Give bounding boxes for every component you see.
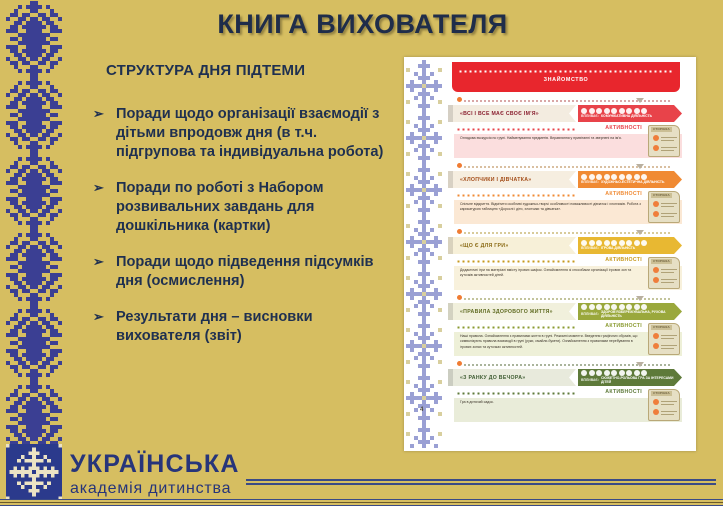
- tag-text: СЮЖЕТНО-РОЛЬОВА ГРА ЗА ІНТЕРЕСАМИ ДІТЕЙ: [601, 377, 682, 385]
- page-card-line: [661, 338, 674, 339]
- connector-knob-icon: [456, 228, 463, 235]
- list-item-label: Поради по роботі з Набором розвивальних …: [116, 180, 323, 234]
- document-section[interactable]: «ВСІ І ВСЕ МАЄ СВОЄ ІМ'Я» ВПЛИВАЄ: КОМУН…: [448, 96, 692, 158]
- bullet-arrow-icon: ➢: [93, 309, 104, 326]
- bullet-list: ➢ Поради щодо організації взаємодії з ді…: [92, 105, 392, 363]
- section-influence-tag: ВПЛИВАЄ: ХУДОЖНЬО-ЕСТЕТИЧНА ДІЯЛЬНІСТЬ: [578, 171, 682, 188]
- page-card-line: [661, 216, 674, 217]
- tag-label: ВПЛИВАЄ: ХУДОЖНЬО-ЕСТЕТИЧНА ДІЯЛЬНІСТЬ: [581, 181, 682, 185]
- slide: КНИГА ВИХОВАТЕЛЯ СТРУКТУРА ДНЯ ПІДТЕМИ ➢…: [0, 0, 723, 506]
- section-activities: АКТИВНОСТІ Гра в дитячий садок. СТОРІНКА: [454, 388, 682, 422]
- logo-embroidery-mark: [6, 444, 62, 500]
- activities-label: АКТИВНОСТІ: [605, 323, 642, 329]
- section-title: «ЩО Є ДЛЯ ГРИ»: [448, 237, 576, 254]
- embroidery-border-left: [6, 0, 62, 458]
- list-item-label: Поради щодо підведення підсумків дня (ос…: [116, 254, 374, 289]
- page-card-label: СТОРІНКА: [651, 127, 672, 132]
- page-card-dot-icon: [653, 409, 659, 415]
- page-card-dot-icon: [653, 277, 659, 283]
- section-influence-tag: ВПЛИВАЄ: СЮЖЕТНО-РОЛЬОВА ГРА ЗА ІНТЕРЕСА…: [578, 369, 682, 386]
- page-title: КНИГА ВИХОВАТЕЛЯ: [190, 9, 535, 40]
- activities-dotted-line: [456, 326, 576, 329]
- document-section[interactable]: «ХЛОПЧИКИ І ДІВЧАТКА» ВПЛИВАЄ: ХУДОЖНЬО-…: [448, 162, 692, 224]
- section-activities: АКТИВНОСТІ Оглядова екскурсія по групі. …: [454, 124, 682, 158]
- page-card-line: [661, 414, 674, 415]
- document-page-number: 4: [420, 407, 423, 413]
- page-card-line: [661, 272, 674, 273]
- page-card-line: [661, 147, 677, 148]
- page-card-label: СТОРІНКА: [651, 259, 672, 264]
- document-section[interactable]: «ПРАВИЛА ЗДОРОВОГО ЖИТТЯ» ВПЛИВАЄ: ЗДОРО…: [448, 294, 692, 356]
- section-banner: «ПРАВИЛА ЗДОРОВОГО ЖИТТЯ» ВПЛИВАЄ: ЗДОРО…: [448, 303, 692, 320]
- section-subtitle: СТРУКТУРА ДНЯ ПІДТЕМИ: [106, 62, 305, 79]
- page-card[interactable]: СТОРІНКА: [648, 389, 680, 421]
- page-card-line: [661, 282, 674, 283]
- page-card-dot-icon: [653, 135, 659, 141]
- activities-dotted-line: [456, 128, 576, 131]
- tag-label: ВПЛИВАЄ: СЮЖЕТНО-РОЛЬОВА ГРА ЗА ІНТЕРЕСА…: [581, 377, 682, 385]
- activities-text: Дидактичні ігри на матеріалі вмісту ігро…: [460, 268, 644, 279]
- header-dotted-line: [458, 70, 674, 73]
- page-card-line: [661, 137, 677, 138]
- page-card-line: [661, 345, 677, 346]
- page-card[interactable]: СТОРІНКА: [648, 125, 680, 157]
- page-card-line: [661, 348, 674, 349]
- page-card-label: СТОРІНКА: [651, 193, 672, 198]
- page-card-dot-icon: [653, 399, 659, 405]
- list-item: ➢ Поради по роботі з Набором розвивальни…: [92, 179, 392, 236]
- tag-text: ХУДОЖНЬО-ЕСТЕТИЧНА ДІЯЛЬНІСТЬ: [601, 181, 664, 185]
- activities-dotted-line: [456, 194, 576, 197]
- page-card-line: [661, 279, 677, 280]
- activities-label: АКТИВНОСТІ: [605, 389, 642, 395]
- section-influence-tag: ВПЛИВАЄ: КОМУНІКАТИВНА ДІЯЛЬНІСТЬ: [578, 105, 682, 122]
- page-card-line: [661, 213, 677, 214]
- list-item: ➢ Результати дня – висновки вихователя (…: [92, 308, 392, 346]
- activities-label: АКТИВНОСТІ: [605, 257, 642, 263]
- document-preview-panel[interactable]: ЗНАЙОМСТВО «ВСІ І ВСЕ МАЄ СВОЄ ІМ'Я» ВПЛ…: [404, 57, 696, 451]
- tag-kicker: ВПЛИВАЄ:: [581, 313, 599, 317]
- tag-label: ВПЛИВАЄ: ЗДОРОВ'ЯЗБЕРЕЖУВАЛЬНА, РУХОВА Д…: [581, 311, 682, 319]
- tag-text: КОМУНІКАТИВНА ДІЯЛЬНІСТЬ: [601, 115, 652, 119]
- page-card-dot-icon: [653, 145, 659, 151]
- list-item-label: Результати дня – висновки вихователя (зв…: [116, 309, 313, 344]
- connector-knob-icon: [456, 360, 463, 367]
- section-title: «З РАНКУ ДО ВЕЧОРА»: [448, 369, 576, 386]
- page-card-line: [661, 401, 677, 402]
- page-card-dot-icon: [653, 211, 659, 217]
- connector-tick-icon: [636, 164, 644, 169]
- activities-dotted-line: [456, 392, 576, 395]
- connector-tick-icon: [636, 362, 644, 367]
- tag-kicker: ВПЛИВАЄ:: [581, 247, 599, 251]
- page-card[interactable]: СТОРІНКА: [648, 257, 680, 289]
- document-content: ЗНАЙОМСТВО «ВСІ І ВСЕ МАЄ СВОЄ ІМ'Я» ВПЛ…: [448, 60, 692, 422]
- section-banner: «ЩО Є ДЛЯ ГРИ» ВПЛИВАЄ: ІГРОВА ДІЯЛЬНІСТ…: [448, 237, 692, 254]
- page-card-dot-icon: [653, 343, 659, 349]
- logo-subtitle: академія дитинства: [70, 479, 240, 498]
- activities-text: Гра в дитячий садок.: [460, 400, 644, 405]
- tag-text: ЗДОРОВ'ЯЗБЕРЕЖУВАЛЬНА, РУХОВА ДІЯЛЬНІСТЬ: [601, 311, 682, 319]
- section-banner: «З РАНКУ ДО ВЕЧОРА» ВПЛИВАЄ: СЮЖЕТНО-РОЛ…: [448, 369, 692, 386]
- header-label: ЗНАЙОМСТВО: [452, 77, 680, 83]
- bullet-arrow-icon: ➢: [93, 180, 104, 197]
- tag-label: ВПЛИВАЄ: ІГРОВА ДІЯЛЬНІСТЬ: [581, 247, 682, 251]
- page-card-label: СТОРІНКА: [651, 325, 672, 330]
- page-card-dot-icon: [653, 267, 659, 273]
- page-card-line: [661, 203, 677, 204]
- page-card[interactable]: СТОРІНКА: [648, 323, 680, 355]
- document-header-band: ЗНАЙОМСТВО: [452, 62, 680, 92]
- connector-knob-icon: [456, 294, 463, 301]
- brand-logo: УКРАЇНСЬКА академія дитинства: [6, 444, 240, 500]
- activities-text: Спільне відкриття. Відмітити особливі ху…: [460, 202, 644, 213]
- activities-dotted-line: [456, 260, 576, 263]
- section-connector: [454, 294, 678, 303]
- section-activities: АКТИВНОСТІ Дидактичні ігри на матеріалі …: [454, 256, 682, 290]
- tag-kicker: ВПЛИВАЄ:: [581, 181, 599, 185]
- tag-label: ВПЛИВАЄ: КОМУНІКАТИВНА ДІЯЛЬНІСТЬ: [581, 115, 682, 119]
- list-item: ➢ Поради щодо підведення підсумків дня (…: [92, 253, 392, 291]
- list-item: ➢ Поради щодо організації взаємодії з ді…: [92, 105, 392, 162]
- list-item-label: Поради щодо організації взаємодії з діть…: [116, 106, 383, 160]
- page-card-line: [661, 411, 677, 412]
- tag-kicker: ВПЛИВАЄ:: [581, 115, 599, 119]
- page-card-line: [661, 335, 677, 336]
- section-connector: [454, 228, 678, 237]
- section-activities: АКТИВНОСТІ Спільне відкриття. Відмітити …: [454, 190, 682, 224]
- document-section[interactable]: «ЩО Є ДЛЯ ГРИ» ВПЛИВАЄ: ІГРОВА ДІЯЛЬНІСТ…: [448, 228, 692, 290]
- page-card-line: [661, 404, 674, 405]
- section-title: «ПРАВИЛА ЗДОРОВОГО ЖИТТЯ»: [448, 303, 576, 320]
- connector-tick-icon: [636, 98, 644, 103]
- section-title: «ХЛОПЧИКИ І ДІВЧАТКА»: [448, 171, 576, 188]
- logo-divider-rule: [246, 479, 716, 485]
- page-card-line: [661, 206, 674, 207]
- page-card-dot-icon: [653, 333, 659, 339]
- activities-label: АКТИВНОСТІ: [605, 125, 642, 131]
- page-card-dot-icon: [653, 201, 659, 207]
- document-embroidery-strip: [406, 59, 442, 449]
- connector-tick-icon: [636, 296, 644, 301]
- logo-title: УКРАЇНСЬКА: [70, 452, 240, 477]
- bullet-arrow-icon: ➢: [93, 254, 104, 271]
- section-influence-tag: ВПЛИВАЄ: ІГРОВА ДІЯЛЬНІСТЬ: [578, 237, 682, 254]
- section-banner: «ВСІ І ВСЕ МАЄ СВОЄ ІМ'Я» ВПЛИВАЄ: КОМУН…: [448, 105, 692, 122]
- connector-tick-icon: [636, 230, 644, 235]
- section-connector: [454, 162, 678, 171]
- tag-kicker: ВПЛИВАЄ:: [581, 379, 599, 383]
- page-card-line: [661, 269, 677, 270]
- section-title: «ВСІ І ВСЕ МАЄ СВОЄ ІМ'Я»: [448, 105, 576, 122]
- page-card-line: [661, 150, 674, 151]
- section-banner: «ХЛОПЧИКИ І ДІВЧАТКА» ВПЛИВАЄ: ХУДОЖНЬО-…: [448, 171, 692, 188]
- section-connector: [454, 96, 678, 105]
- connector-knob-icon: [456, 96, 463, 103]
- page-card-line: [661, 140, 674, 141]
- document-section[interactable]: «З РАНКУ ДО ВЕЧОРА» ВПЛИВАЄ: СЮЖЕТНО-РОЛ…: [448, 360, 692, 422]
- tag-text: ІГРОВА ДІЯЛЬНІСТЬ: [601, 247, 635, 251]
- page-card-label: СТОРІНКА: [651, 391, 672, 396]
- bullet-arrow-icon: ➢: [93, 106, 104, 123]
- activities-text: Оглядова екскурсія по групі. Найменуванн…: [460, 136, 644, 141]
- connector-knob-icon: [456, 162, 463, 169]
- activities-text: Наші правила. Ознайомлення з правилами ж…: [460, 334, 644, 350]
- logo-text: УКРАЇНСЬКА академія дитинства: [70, 452, 240, 500]
- section-connector: [454, 360, 678, 369]
- page-card[interactable]: СТОРІНКА: [648, 191, 680, 223]
- section-activities: АКТИВНОСТІ Наші правила. Ознайомлення з …: [454, 322, 682, 356]
- section-influence-tag: ВПЛИВАЄ: ЗДОРОВ'ЯЗБЕРЕЖУВАЛЬНА, РУХОВА Д…: [578, 303, 682, 320]
- bottom-stripes: [0, 499, 723, 506]
- activities-label: АКТИВНОСТІ: [605, 191, 642, 197]
